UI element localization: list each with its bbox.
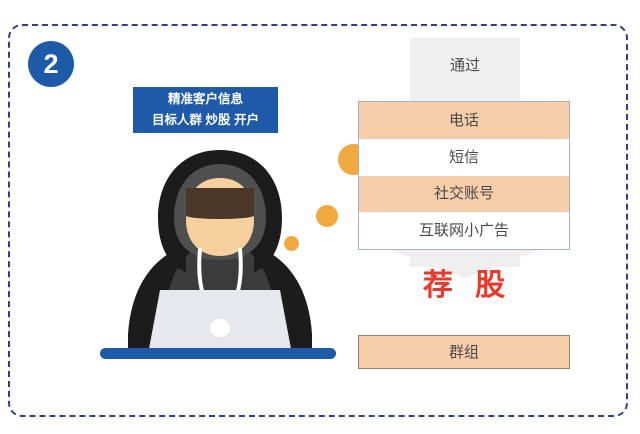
hacker-at-laptop-illustration [96,144,344,364]
infographic-canvas: 2 精准客户信息 目标人群 炒股 开户 通过 [0,0,640,434]
desk-bar [100,348,336,359]
step-number-badge: 2 [28,41,74,87]
eye-visor [186,188,254,219]
channel-item-internet-ads[interactable]: 互联网小广告 [359,212,569,249]
channel-item-internet-ads-label: 互联网小广告 [419,223,509,238]
channel-item-phone-label: 电话 [449,113,479,128]
info-label-line-2: 目标人群 炒股 开户 [152,110,259,131]
channel-item-sms[interactable]: 短信 [359,139,569,176]
channels-header: 通过 [410,58,520,73]
group-box[interactable]: 群组 [358,335,570,369]
channel-item-sms-label: 短信 [449,150,479,165]
channel-item-social-account-label: 社交账号 [434,186,494,201]
laptop-logo [210,319,230,337]
orange-dot-small [284,236,299,251]
channel-item-social-account[interactable]: 社交账号 [359,176,569,213]
channel-item-phone[interactable]: 电话 [359,102,569,139]
step-number-text: 2 [43,51,58,78]
orange-dot-medium [316,205,338,227]
group-box-label: 群组 [449,345,479,360]
channels-list: 电话 短信 社交账号 互联网小广告 [358,101,570,250]
target-info-label: 精准客户信息 目标人群 炒股 开户 [133,87,278,133]
headline-text: 荐 股 [358,269,570,302]
info-label-line-1: 精准客户信息 [168,89,243,110]
